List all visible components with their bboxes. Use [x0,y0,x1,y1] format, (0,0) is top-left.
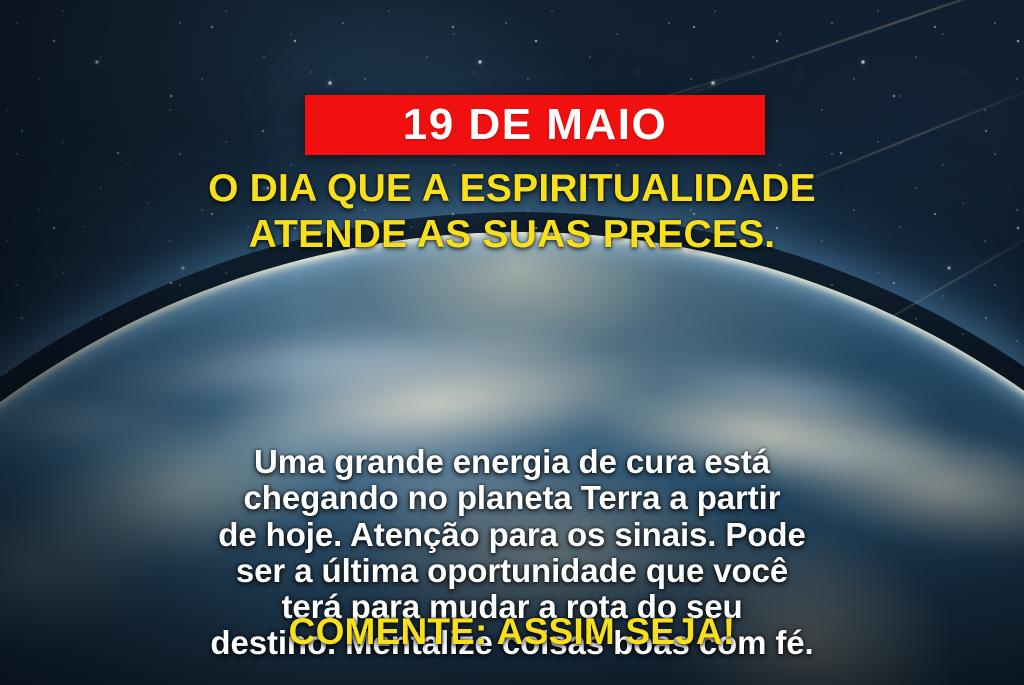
poster-canvas: 19 DE MAIO O DIA QUE A ESPIRITUALIDADE A… [0,0,1024,685]
date-banner-text: 19 DE MAIO [403,103,667,147]
headline: O DIA QUE A ESPIRITUALIDADE ATENDE AS SU… [0,166,1024,258]
headline-line-1: O DIA QUE A ESPIRITUALIDADE [0,166,1024,212]
body-line-3: de hoje. Atenção para os sinais. Pode [0,517,1024,553]
headline-line-2: ATENDE AS SUAS PRECES. [0,212,1024,258]
date-banner: 19 DE MAIO [305,95,765,155]
body-line-2: chegando no planeta Terra a partir [0,480,1024,516]
body-line-1: Uma grande energia de cura está [0,444,1024,480]
call-to-action-text: COMENTE: ASSIM SEJA! [0,612,1024,653]
body-line-4: ser a última oportunidade que você [0,553,1024,589]
poster-content: 19 DE MAIO O DIA QUE A ESPIRITUALIDADE A… [0,0,1024,685]
